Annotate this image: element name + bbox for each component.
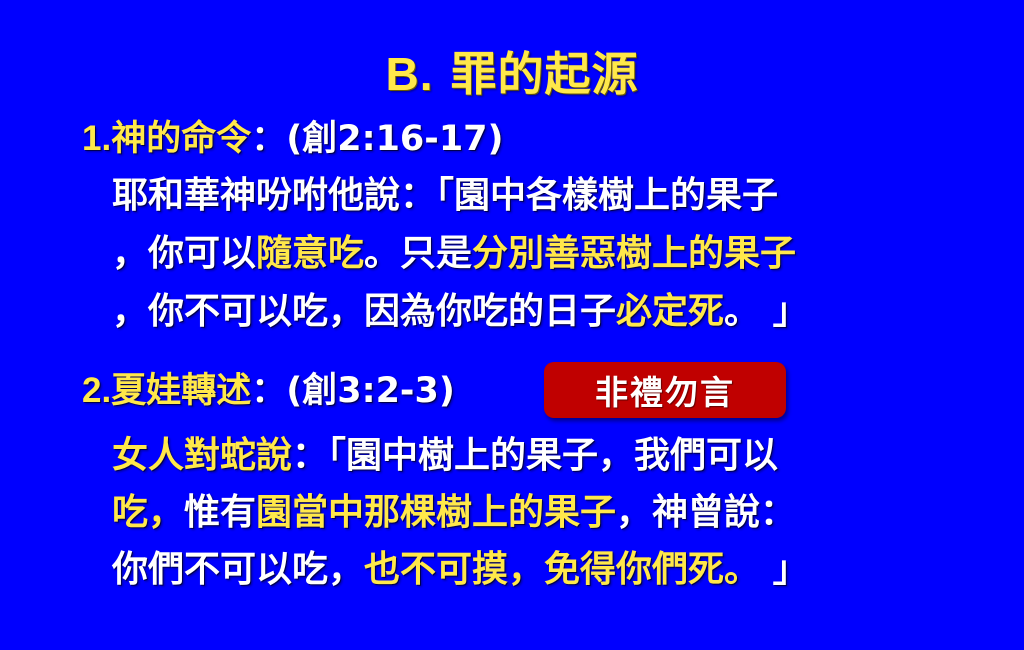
page-title: B. 罪的起源: [0, 38, 1024, 104]
point-2-key: 夏娃轉述: [111, 371, 251, 411]
text-segment-highlight: 也不可摸，免得你們死。: [364, 549, 760, 590]
text-segment-highlight: 吃，: [112, 492, 184, 533]
point-2-heading: 2.夏娃轉述：(創3:2-3): [82, 372, 455, 411]
page-title-letter: B.: [385, 48, 433, 100]
point-1-reference: (創2:16-17): [286, 119, 503, 159]
point-1-line-1: 耶和華神吩咐他說：「園中各樣樹上的果子: [112, 176, 778, 216]
point-2-line-2: 吃，惟有園當中那棵樹上的果子，神曾說：: [112, 493, 796, 533]
text-segment: 你們不可以吃，: [112, 549, 364, 590]
text-segment-highlight: 園當中那棵樹上的果子: [256, 492, 616, 533]
text-segment: 耶和華神吩咐他說：「園中各樣樹上的果子: [112, 175, 778, 216]
status-badge: 非禮勿言: [544, 362, 786, 418]
text-segment-highlight: 女人對蛇說: [112, 435, 292, 476]
text-segment: 。只是: [364, 233, 472, 274]
text-segment: ，神曾說：: [616, 492, 796, 533]
point-1-line-3: ，你不可以吃，因為你吃的日子必定死。 」: [112, 292, 809, 332]
text-segment: 惟有: [184, 492, 256, 533]
text-segment: 。 」: [724, 291, 809, 332]
point-1-key: 神的命令: [111, 119, 251, 159]
page-title-text: 罪的起源: [451, 47, 639, 101]
point-2-number: 2.: [82, 371, 111, 410]
text-segment: ，你可以: [112, 233, 256, 274]
point-1-line-2: ，你可以隨意吃。只是分別善惡樹上的果子: [112, 234, 796, 274]
point-1-separator: ：: [251, 119, 286, 159]
status-badge-label: 非禮勿言: [595, 366, 735, 414]
text-segment-highlight: 隨意吃: [256, 233, 364, 274]
slide-canvas: B. 罪的起源 1.神的命令：(創2:16-17) 耶和華神吩咐他說：「園中各樣…: [0, 0, 1024, 650]
point-1-number: 1.: [82, 119, 111, 158]
text-segment: 」: [760, 549, 809, 590]
text-segment: ，你不可以吃，因為你吃的日子: [112, 291, 616, 332]
point-2-separator: ：: [251, 371, 286, 411]
point-2-line-1: 女人對蛇說：「園中樹上的果子，我們可以: [112, 436, 778, 476]
point-2-reference: (創3:2-3): [286, 371, 455, 411]
text-segment-highlight: 分別善惡樹上的果子: [472, 233, 796, 274]
text-segment: ：「園中樹上的果子，我們可以: [292, 435, 778, 476]
point-2-line-3: 你們不可以吃，也不可摸，免得你們死。 」: [112, 550, 809, 590]
text-segment-highlight: 必定死: [616, 291, 724, 332]
point-1-heading: 1.神的命令：(創2:16-17): [82, 120, 504, 159]
